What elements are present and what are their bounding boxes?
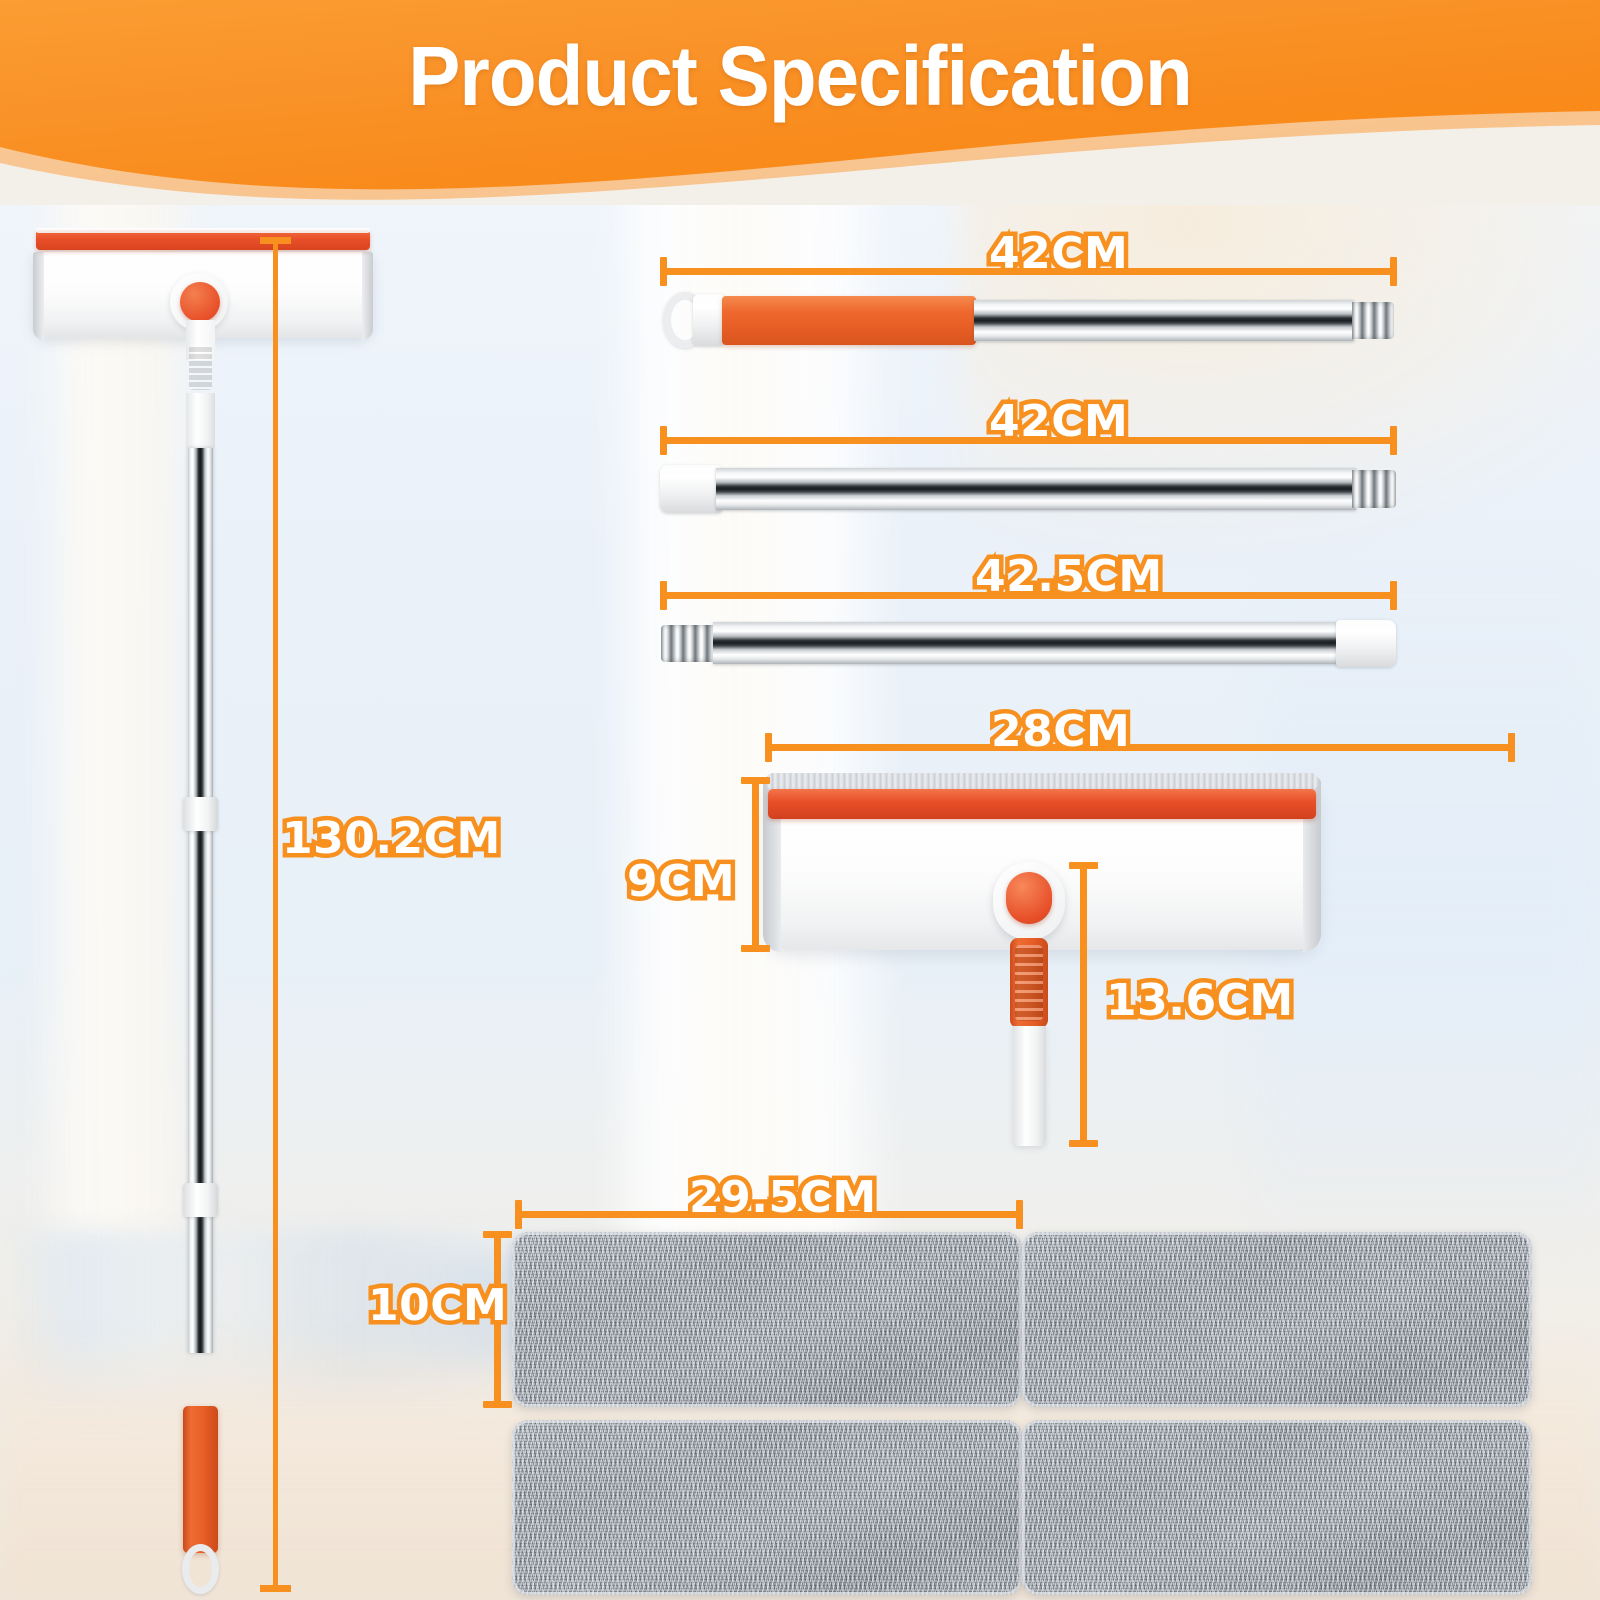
- product-specification-page: Product Specification 130.2CM: [0, 0, 1600, 1600]
- pole-middle-threaded-tip: [1352, 470, 1396, 508]
- microfiber-pad-bottom-right: [1022, 1420, 1532, 1595]
- pole-handle-loop-base: [693, 294, 725, 346]
- dimension-label-head-handle-length: 13.6CM: [1106, 975, 1294, 1026]
- telescopic-pole-shaft: [188, 448, 213, 1353]
- squeegee-rubber-blade: [36, 230, 370, 250]
- squeegee-grip-ribs: [189, 345, 212, 390]
- dimension-label-pole-middle: 42CM: [989, 396, 1128, 447]
- dimension-label-pole-end: 42.5CM: [975, 551, 1163, 602]
- pole-bottom-grip: [183, 1406, 218, 1553]
- page-header: Product Specification: [0, 0, 1600, 205]
- head-detail-shaft-stub: [1013, 1026, 1046, 1146]
- pole-handle-foam-grip: [722, 296, 976, 345]
- microfiber-pad-top-left: [512, 1232, 1022, 1407]
- squeegee-upper-collar: [186, 393, 215, 451]
- head-detail-grip-ribs: [1015, 945, 1043, 1021]
- dimension-label-pole-handle: 42CM: [989, 228, 1128, 279]
- dimension-line-head-handle-length: [1080, 862, 1087, 1147]
- pole-handle-chrome-tube: [974, 300, 1354, 341]
- pole-telescopic-collar-upper: [183, 797, 218, 831]
- dimension-label-head-height: 9CM: [627, 856, 735, 907]
- head-detail-fabric-top-strip: [766, 773, 1318, 790]
- dimension-line-head-height: [752, 777, 759, 952]
- pole-end-threaded-tip: [661, 625, 717, 662]
- squeegee-head-fabric-edge-left: [33, 252, 44, 340]
- microfiber-pad-bottom-left: [512, 1420, 1022, 1595]
- dimension-line-head-width: [765, 744, 1515, 751]
- dimension-label-head-width: 28CM: [991, 706, 1130, 757]
- head-detail-grip: [1010, 938, 1048, 1028]
- squeegee-head-fabric-edge-right: [362, 252, 373, 340]
- page-title: Product Specification: [56, 28, 1544, 125]
- squeegee-grip: [185, 340, 216, 395]
- dimension-label-pad-width: 29.5CM: [689, 1172, 877, 1223]
- pole-middle-end-cap: [660, 465, 722, 513]
- pole-telescopic-collar-lower: [183, 1183, 218, 1217]
- dimension-line-assembled-height: [273, 237, 278, 1592]
- head-detail-rubber-blade: [768, 789, 1316, 819]
- dimension-label-assembled-height: 130.2CM: [282, 813, 501, 864]
- microfiber-pad-top-right: [1022, 1232, 1532, 1407]
- squeegee-pivot-button-icon: [180, 282, 220, 322]
- head-detail-pivot-button-icon: [1006, 872, 1052, 924]
- pole-hanging-loop-icon: [182, 1544, 219, 1594]
- dimension-label-pad-height: 10CM: [368, 1280, 507, 1331]
- squeegee-blade-top-trim: [36, 228, 370, 233]
- pole-handle-threaded-tip: [1352, 302, 1394, 339]
- pole-end-chrome-tube: [713, 622, 1343, 664]
- pole-end-cap: [1336, 620, 1396, 667]
- pole-middle-chrome-tube: [716, 468, 1356, 510]
